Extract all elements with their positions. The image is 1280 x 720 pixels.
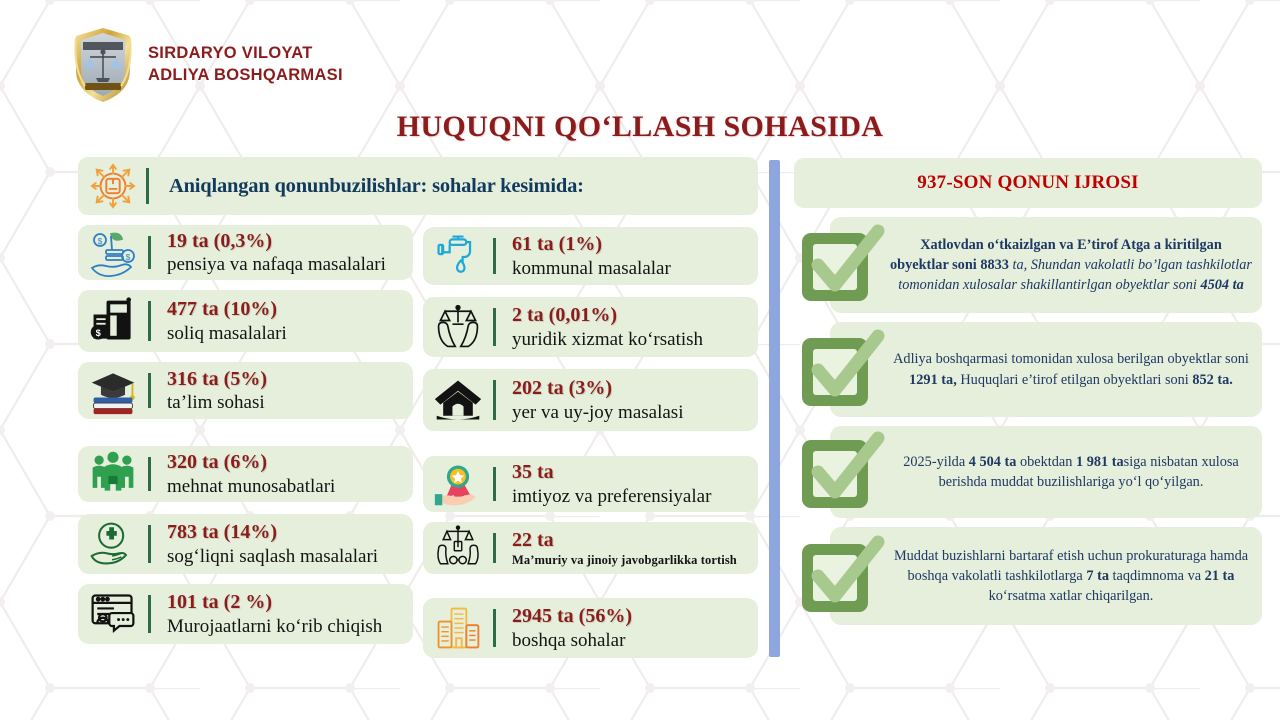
health-cross-hand-icon	[86, 519, 140, 569]
stat-value: 477 ta (10%)	[167, 297, 287, 321]
stat-label: sog‘liqni saqlash masalalari	[167, 545, 378, 568]
svg-text:$: $	[98, 237, 103, 246]
stat-card-communal[interactable]: 61 ta (1%) kommunal masalalar	[423, 227, 758, 285]
stat-card-health[interactable]: 783 ta (14%) sog‘liqni saqlash masalalar…	[78, 514, 413, 574]
buildings-icon	[431, 603, 485, 653]
law-item-card: 2025-yilda 4 504 ta obektdan 1 981 tasig…	[830, 426, 1262, 518]
law-text-value: 21 ta	[1205, 568, 1235, 584]
svg-text:$: $	[96, 328, 102, 338]
scales-in-hands-icon	[431, 302, 485, 352]
divider-line	[148, 236, 151, 269]
section-title: Aniqlangan qonunbuzilishlar: sohalar kes…	[159, 175, 584, 198]
law-text-value: 4504 ta	[1200, 277, 1243, 293]
water-tap-icon	[431, 231, 485, 281]
hand-money-plant-icon: $ $	[86, 228, 140, 278]
stat-label: Murojaatlarni ko‘rib chiqish	[167, 615, 382, 638]
law-text-value: 1 981 ta	[1076, 454, 1124, 470]
vertical-divider	[769, 160, 780, 657]
stat-card-land-housing[interactable]: 202 ta (3%) yer va uy-joy masalasi	[423, 369, 758, 431]
law-item-row[interactable]: Adliya boshqarmasi tomonidan xulosa beri…	[794, 322, 1262, 417]
justice-scales-shield-emblem-icon	[72, 26, 134, 104]
graduation-cap-books-icon	[86, 366, 140, 416]
law-text-part: obektdan	[1016, 454, 1076, 470]
law-text-value: 7 ta	[1086, 568, 1109, 584]
stat-label: yuridik xizmat ko‘rsatish	[512, 328, 703, 351]
checkbox-checked-icon	[794, 530, 886, 622]
handcuffs-scales-icon	[431, 523, 485, 573]
divider-line	[146, 168, 149, 204]
law-item-text: Xatlovdan o‘tkaizlgan va E’tirof Atga a …	[890, 235, 1252, 296]
stat-card-privileges[interactable]: 35 ta imtiyoz va preferensiyalar	[423, 456, 758, 512]
stat-value: 316 ta (5%)	[167, 367, 267, 391]
law-item-text: Muddat buzishlarni bartaraf etish uchun …	[890, 546, 1252, 607]
law-item-row[interactable]: Xatlovdan o‘tkaizlgan va E’tirof Atga a …	[794, 217, 1262, 313]
page-title: HUQUQNI QO‘LLASH SOHASIDA	[0, 110, 1280, 144]
complaint-review-icon	[86, 589, 140, 639]
stat-label: yer va uy-joy masalasi	[512, 401, 683, 424]
law-text-part: taqdimnoma va	[1109, 568, 1205, 584]
right-panel-header: 937-SON QONUN IJROSI	[794, 158, 1262, 208]
law-item-row[interactable]: 2025-yilda 4 504 ta obektdan 1 981 tasig…	[794, 426, 1262, 518]
divider-line	[493, 238, 496, 274]
people-group-icon	[86, 449, 140, 499]
package-distribution-icon	[90, 163, 136, 209]
stat-value: 2945 ta (56%)	[512, 604, 632, 628]
checkbox-checked-icon	[794, 426, 886, 518]
stat-card-pension[interactable]: $ $ 19 ta (0,3%) pensiya	[78, 225, 413, 280]
checkbox-checked-icon	[794, 324, 886, 416]
header: SIRDARYO VILOYAT ADLIYA BOSHQARMASI	[72, 26, 343, 104]
tax-document-calculator-icon: $	[86, 296, 140, 346]
org-line-2: ADLIYA BOSHQARMASI	[148, 65, 343, 87]
stat-value: 61 ta (1%)	[512, 232, 671, 256]
divider-line	[148, 457, 151, 491]
stat-label: kommunal masalalar	[512, 257, 671, 280]
org-line-1: SIRDARYO VILOYAT	[148, 43, 343, 65]
stat-label: ta’lim sohasi	[167, 391, 267, 414]
stat-label: imtiyoz va preferensiyalar	[512, 485, 711, 508]
stat-value: 2 ta (0,01%)	[512, 303, 703, 327]
divider-line	[148, 525, 151, 563]
stat-card-liability[interactable]: 22 ta Ma’muriy va jinoiy javobgarlikka t…	[423, 522, 758, 574]
infographic-page: SIRDARYO VILOYAT ADLIYA BOSHQARMASI HUQU…	[0, 0, 1280, 720]
stat-value: 22 ta	[512, 528, 737, 552]
stat-value: 35 ta	[512, 460, 711, 484]
stat-label: boshqa sohalar	[512, 629, 632, 652]
svg-text:$: $	[126, 253, 131, 262]
stat-card-other[interactable]: 2945 ta (56%) boshqa sohalar	[423, 598, 758, 658]
stat-card-appeals[interactable]: 101 ta (2 %) Murojaatlarni ko‘rib chiqis…	[78, 584, 413, 644]
law-text-part: Huquqlari e’tirof etilgan obyektlari son…	[957, 372, 1193, 388]
organization-name: SIRDARYO VILOYAT ADLIYA BOSHQARMASI	[148, 43, 343, 87]
divider-line	[148, 595, 151, 633]
law-text-value: 852 ta.	[1192, 372, 1233, 388]
stats-column-1: $ $ 19 ta (0,3%) pensiya	[78, 225, 413, 658]
stat-value: 101 ta (2 %)	[167, 590, 382, 614]
divider-line	[148, 301, 151, 341]
law-text-value: 1291 ta,	[909, 372, 957, 388]
stat-value: 19 ta (0,3%)	[167, 229, 386, 253]
law-text-value: 8833	[980, 257, 1009, 273]
stat-value: 783 ta (14%)	[167, 520, 378, 544]
divider-line	[493, 533, 496, 563]
stat-value: 202 ta (3%)	[512, 376, 683, 400]
law-text-value: 4 504 ta	[969, 454, 1017, 470]
stat-card-legal-service[interactable]: 2 ta (0,01%) yuridik xizmat ko‘rsatish	[423, 297, 758, 357]
divider-line	[493, 380, 496, 420]
checkbox-checked-icon	[794, 219, 886, 311]
divider-line	[148, 373, 151, 408]
stat-card-education[interactable]: 316 ta (5%) ta’lim sohasi	[78, 362, 413, 419]
law-item-card: Xatlovdan o‘tkaizlgan va E’tirof Atga a …	[830, 217, 1262, 313]
stat-label: soliq masalalari	[167, 322, 287, 345]
law-item-card: Muddat buzishlarni bartaraf etish uchun …	[830, 527, 1262, 625]
stat-label: mehnat munosabatlari	[167, 475, 335, 498]
law-item-text: Adliya boshqarmasi tomonidan xulosa beri…	[890, 349, 1252, 390]
divider-line	[493, 467, 496, 501]
stat-label: pensiya va nafaqa masalalari	[167, 253, 386, 276]
divider-line	[493, 609, 496, 647]
stats-column-2: 61 ta (1%) kommunal masalalar	[423, 225, 758, 658]
section-header-bar: Aniqlangan qonunbuzilishlar: sohalar kes…	[78, 157, 758, 215]
law-text-part: ko‘rsatma xatlar chiqarilgan.	[989, 588, 1154, 604]
law-item-text: 2025-yilda 4 504 ta obektdan 1 981 tasig…	[890, 452, 1252, 493]
house-icon	[431, 375, 485, 425]
stat-label: Ma’muriy va jinoiy javobgarlikka tortish	[512, 553, 737, 568]
stat-card-labor[interactable]: 320 ta (6%) mehnat munosabatlari	[78, 446, 413, 502]
stat-card-tax[interactable]: $ 477 ta (10%) soliq masalalari	[78, 290, 413, 352]
law-text-part: 2025-yilda	[903, 454, 969, 470]
award-ribbon-hand-icon	[431, 459, 485, 509]
divider-line	[493, 308, 496, 346]
law-text-part: Adliya boshqarmasi tomonidan xulosa beri…	[893, 351, 1249, 367]
law-item-row[interactable]: Muddat buzishlarni bartaraf etish uchun …	[794, 527, 1262, 625]
left-panel: Aniqlangan qonunbuzilishlar: sohalar kes…	[78, 157, 758, 658]
stat-value: 320 ta (6%)	[167, 450, 335, 474]
stats-columns: $ $ 19 ta (0,3%) pensiya	[78, 225, 758, 658]
law-item-card: Adliya boshqarmasi tomonidan xulosa beri…	[830, 322, 1262, 417]
right-panel: 937-SON QONUN IJROSI Xatlovdan o‘tkaizlg…	[794, 158, 1262, 625]
